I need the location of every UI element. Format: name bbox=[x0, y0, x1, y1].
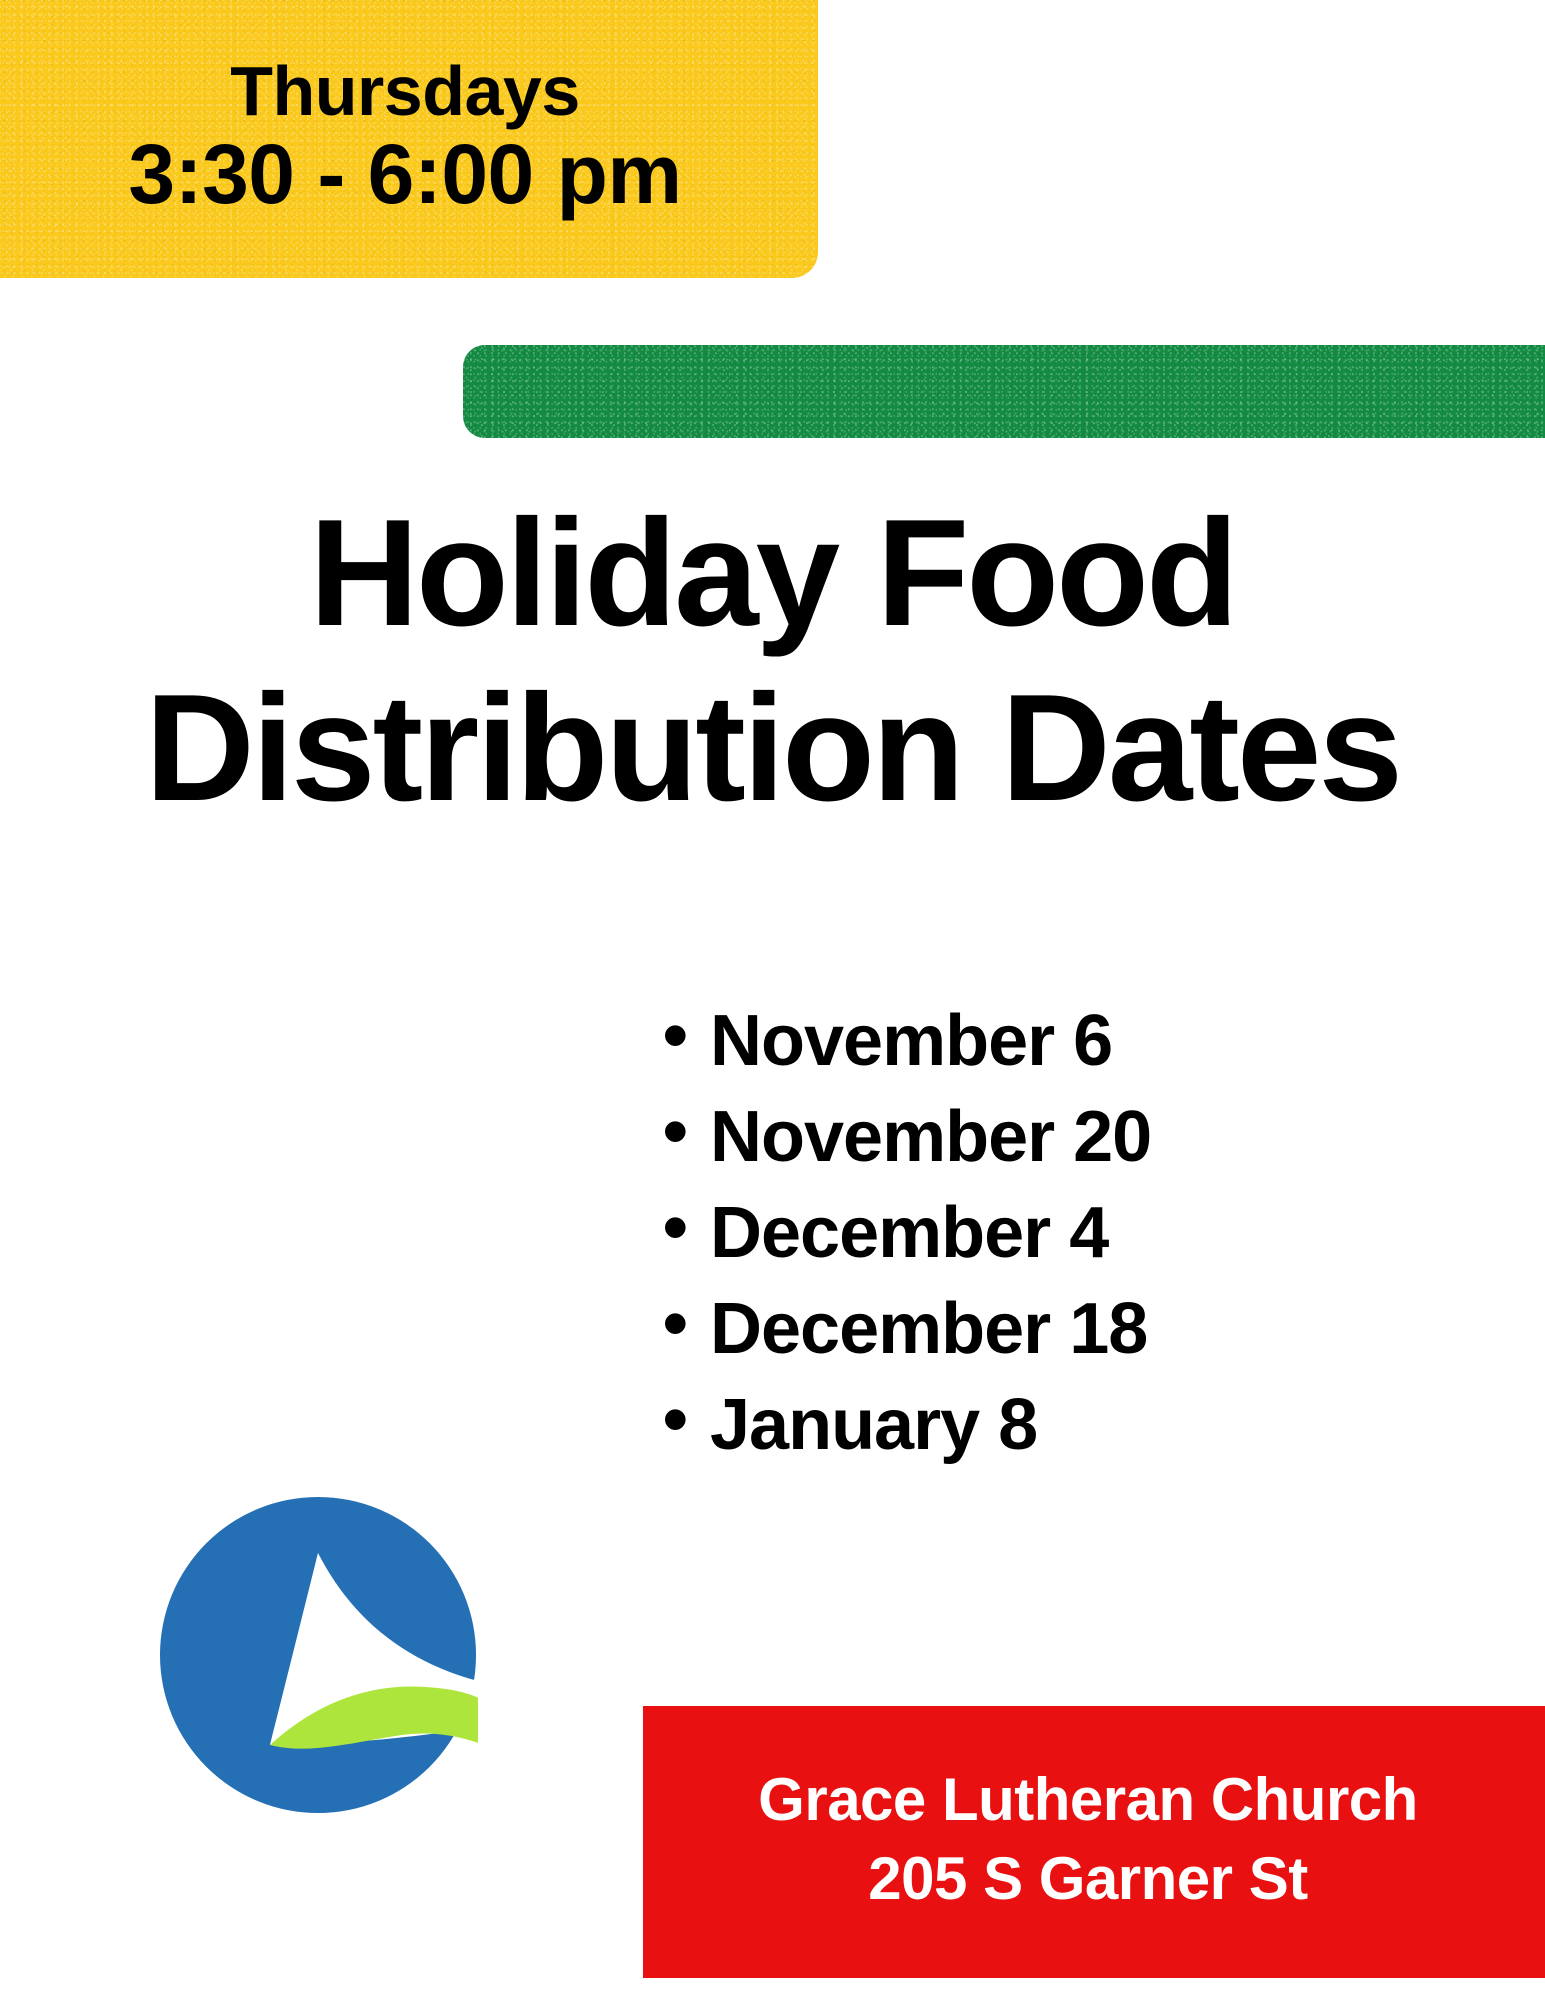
date-label: December 4 bbox=[710, 1197, 1108, 1269]
page-title: Holiday Food Distribution Dates bbox=[0, 486, 1545, 836]
venue-name: Grace Lutheran Church bbox=[758, 1760, 1418, 1839]
page-title-line-2: Distribution Dates bbox=[0, 661, 1545, 836]
mountain-wave-circle-logo-icon bbox=[158, 1495, 478, 1815]
hours-banner: Thursdays 3:30 - 6:00 pm bbox=[0, 0, 818, 278]
venue-address: 205 S Garner St bbox=[868, 1839, 1307, 1918]
list-item: • January 8 bbox=[662, 1386, 1151, 1482]
date-label: November 20 bbox=[710, 1101, 1151, 1173]
list-item: • December 4 bbox=[662, 1194, 1151, 1290]
distribution-dates-list: • November 6 • November 20 • December 4 … bbox=[662, 1002, 1151, 1482]
green-accent-bar bbox=[463, 345, 1545, 438]
date-label: December 18 bbox=[710, 1293, 1147, 1365]
hours-time-label: 3:30 - 6:00 pm bbox=[128, 132, 681, 218]
bullet-icon: • bbox=[662, 1094, 710, 1170]
date-label: January 8 bbox=[710, 1389, 1037, 1461]
poster-canvas: Thursdays 3:30 - 6:00 pm Holiday Food Di… bbox=[0, 0, 1545, 2000]
bullet-icon: • bbox=[662, 1286, 710, 1362]
bullet-icon: • bbox=[662, 998, 710, 1074]
hours-day-label: Thursdays bbox=[230, 56, 580, 127]
page-title-line-1: Holiday Food bbox=[0, 486, 1545, 661]
list-item: • November 6 bbox=[662, 1002, 1151, 1098]
list-item: • November 20 bbox=[662, 1098, 1151, 1194]
address-banner: Grace Lutheran Church 205 S Garner St bbox=[643, 1706, 1545, 1978]
list-item: • December 18 bbox=[662, 1290, 1151, 1386]
green-bar-texture-overlay bbox=[463, 345, 1545, 438]
bullet-icon: • bbox=[662, 1190, 710, 1266]
date-label: November 6 bbox=[710, 1005, 1112, 1077]
bullet-icon: • bbox=[662, 1382, 710, 1458]
